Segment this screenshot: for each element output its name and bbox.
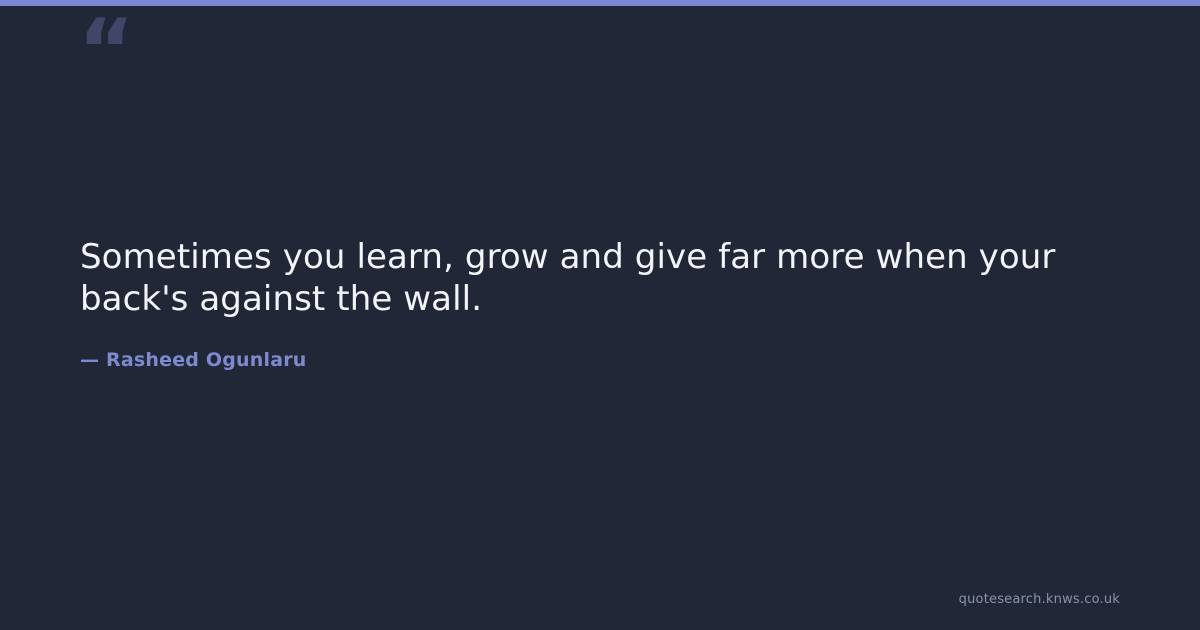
quote-attribution: — Rasheed Ogunlaru bbox=[80, 320, 1120, 372]
quote-text: Sometimes you learn, grow and give far m… bbox=[80, 236, 1120, 320]
quote-content-block: Sometimes you learn, grow and give far m… bbox=[80, 236, 1120, 372]
top-accent-bar bbox=[0, 0, 1200, 6]
open-quote-icon: “ bbox=[78, 8, 133, 94]
quote-card: “ Sometimes you learn, grow and give far… bbox=[0, 0, 1200, 630]
source-url-label: quotesearch.knws.co.uk bbox=[959, 592, 1120, 608]
